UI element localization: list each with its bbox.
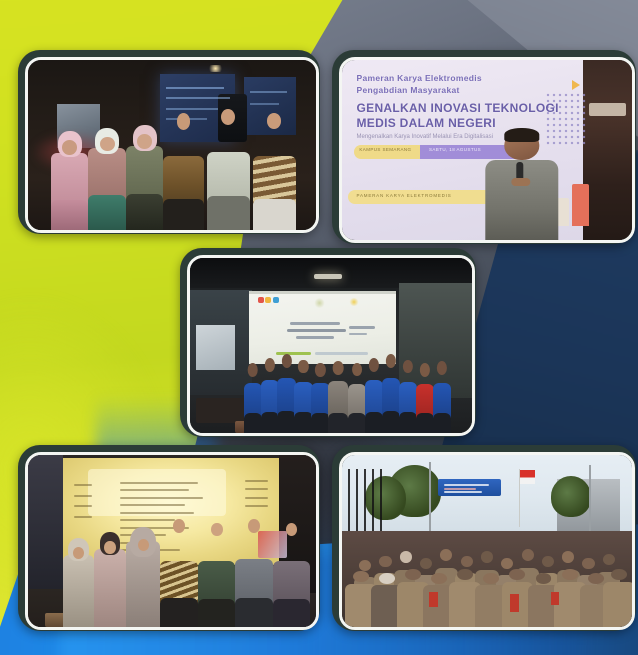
slide-headline-line-2: MEDIS DALAM NEGERI bbox=[357, 116, 496, 130]
photo-frame-top-left[interactable] bbox=[18, 50, 320, 234]
photo-frame-centre[interactable] bbox=[180, 248, 476, 437]
presenter-figure bbox=[478, 128, 565, 240]
photo-frame-top-right[interactable]: Pameran Karya Elektromedis Pengabdian Ma… bbox=[332, 50, 636, 244]
photo-centre-image bbox=[190, 258, 472, 433]
photo-top-left-image bbox=[28, 60, 316, 230]
photo-top-right-image: Pameran Karya Elektromedis Pengabdian Ma… bbox=[342, 60, 632, 240]
slide-headline: GENALKAN INOVASI TEKNOLOGI MEDIS DALAM N… bbox=[357, 101, 583, 131]
slide-eyebrow-line-1: Pameran Karya Elektromedis bbox=[357, 73, 482, 83]
photo-bottom-left-image bbox=[28, 455, 316, 627]
collage-canvas: Pameran Karya Elektromedis Pengabdian Ma… bbox=[0, 0, 638, 655]
slide-chip-left: KAMPUS SEMARANG bbox=[359, 147, 411, 152]
slide-chip-right: SABTU, 18 AGUSTUS bbox=[429, 147, 481, 152]
slide-subtext: Mengenalkan Karya Inovatif Melalui Era D… bbox=[357, 134, 493, 140]
photo-frame-bottom-right[interactable] bbox=[332, 445, 636, 631]
slide-footer-chip: PAMERAN KARYA ELEKTROMEDIS bbox=[357, 193, 452, 198]
photo-frame-bottom-left[interactable] bbox=[18, 445, 320, 631]
photo-bottom-right-image bbox=[342, 455, 632, 627]
slide-headline-line-1: GENALKAN INOVASI TEKNOLOGI bbox=[357, 101, 559, 115]
slide-eyebrow-line-2: Pengabdian Masyarakat bbox=[357, 85, 460, 95]
